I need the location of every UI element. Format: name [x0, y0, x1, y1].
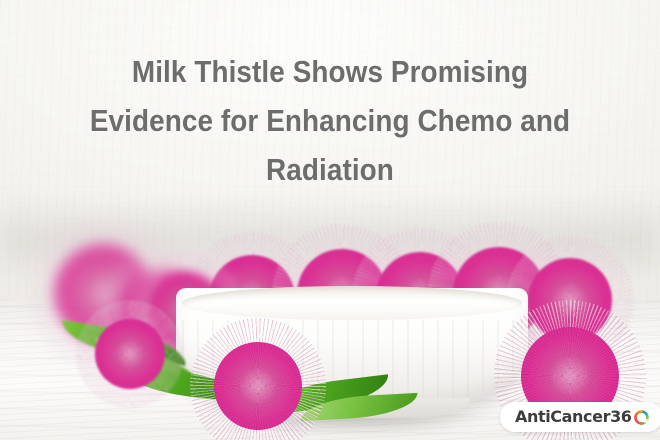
thistle-bloom-foreground — [76, 300, 184, 408]
multicolor-ring-icon — [634, 410, 649, 425]
article-header-graphic: Milk Thistle Shows Promising Evidence fo… — [0, 0, 660, 440]
logo-wordmark: AntiCancer36 — [515, 409, 632, 425]
anticancer360-logo[interactable]: AntiCancer36 — [500, 402, 660, 432]
bowl-rim — [182, 286, 522, 320]
page-title: Milk Thistle Shows Promising Evidence fo… — [33, 47, 627, 194]
